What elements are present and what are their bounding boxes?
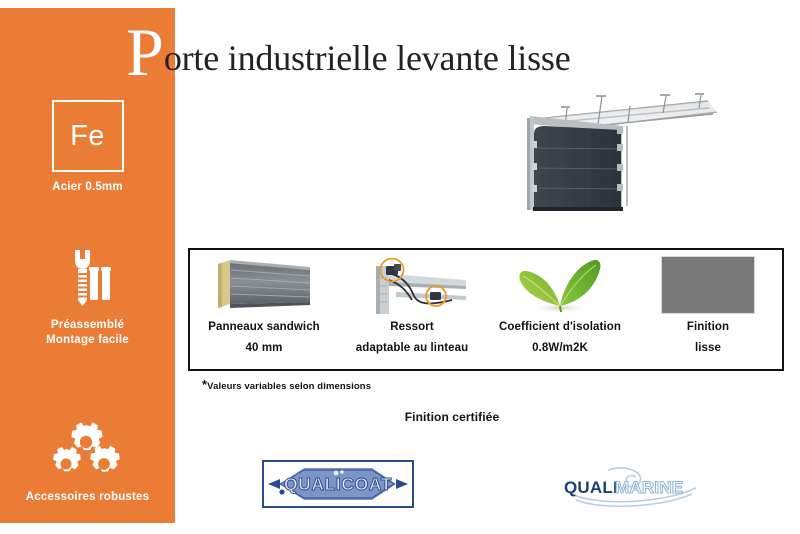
sandwich-panel-image xyxy=(210,254,318,316)
page-title-text: orte industrielle levante lisse xyxy=(164,22,571,94)
gears-icon xyxy=(42,420,134,482)
footnote: *Valeurs variables selon dimensions xyxy=(202,381,371,392)
feature-label-finition: Finition xyxy=(687,321,729,333)
page-title-dropcap: P xyxy=(126,22,164,82)
certification-title-text: Finition certifiée xyxy=(405,410,499,424)
sidebar-caption-acier: Acier 0.5mm xyxy=(0,181,175,193)
footnote-text: Valeurs variables selon dimensions xyxy=(207,381,371,392)
svg-text:MARINE: MARINE xyxy=(615,478,683,497)
green-leaves-icon xyxy=(509,254,611,316)
sidebar-item-preassemble: Préassemblé Montage facile xyxy=(0,248,175,346)
svg-text:QUALICOAT: QUALICOAT xyxy=(284,474,392,494)
sidebar-caption-preassemble: Préassemblé xyxy=(0,319,175,331)
feature-value-panneaux: 40 mm xyxy=(246,342,283,354)
feature-label-ressort: Ressort xyxy=(390,321,434,333)
certification-title: Finition certifiée xyxy=(0,410,800,424)
page-title: P orte industrielle levante lisse xyxy=(126,22,571,86)
feature-value-ressort: adaptable au linteau xyxy=(356,342,469,354)
feature-item-isolation: Coefficient d'isolation 0.8W/m2K xyxy=(486,250,634,369)
sidebar-caption-accessoires: Accessoires robustes xyxy=(0,491,175,503)
finish-color-swatch xyxy=(661,254,755,316)
sidebar-item-acier: Fe Acier 0.5mm xyxy=(0,100,175,193)
feature-item-ressort: Ressort adaptable au linteau xyxy=(338,250,486,369)
finish-swatch-color xyxy=(661,256,755,314)
fe-symbol-label: Fe xyxy=(70,122,105,151)
feature-label-panneaux: Panneaux sandwich xyxy=(208,321,320,333)
svg-text:QUALI: QUALI xyxy=(564,478,618,497)
qualimarine-logo: QUALI MARINE xyxy=(556,466,716,508)
feature-item-panneaux: Panneaux sandwich 40 mm xyxy=(190,250,338,369)
fe-square-icon: Fe xyxy=(52,100,124,172)
industrial-sectional-door-image xyxy=(503,86,743,216)
feature-value-finition: lisse xyxy=(695,342,721,354)
qualicoat-logo: QUALICOAT xyxy=(262,460,414,508)
product-sheet-page: Fe Acier 0.5mm xyxy=(0,0,800,534)
wrench-bolt-icon xyxy=(56,248,120,310)
feature-value-isolation: 0.8W/m2K xyxy=(532,342,588,354)
spring-mechanism-image xyxy=(356,254,468,316)
feature-box: Panneaux sandwich 40 mm xyxy=(188,248,784,371)
sidebar-caption-montage: Montage facile xyxy=(0,334,175,346)
feature-label-isolation: Coefficient d'isolation xyxy=(499,321,621,333)
sidebar-item-accessoires: Accessoires robustes xyxy=(0,420,175,503)
feature-item-finition: Finition lisse xyxy=(634,250,782,369)
